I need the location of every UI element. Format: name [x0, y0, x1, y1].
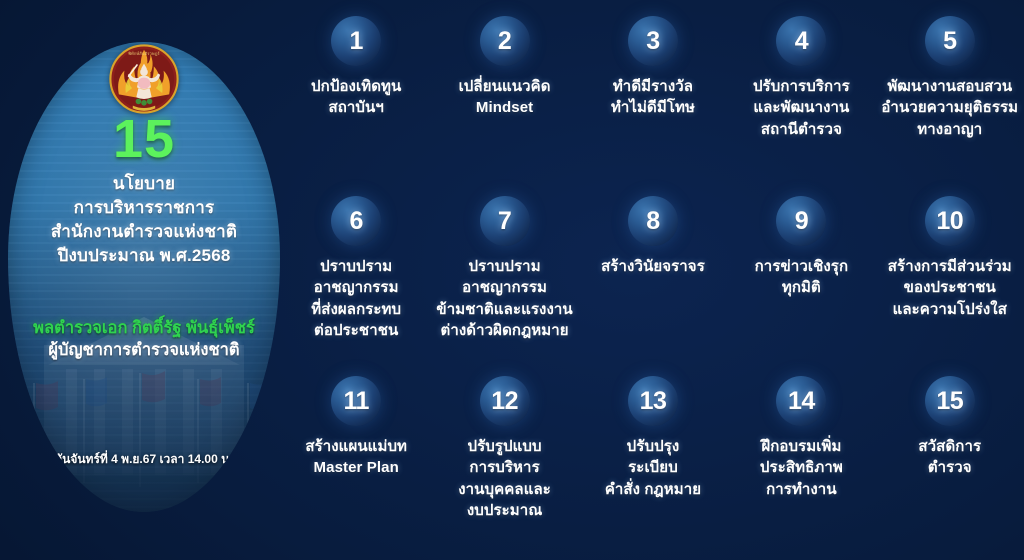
- policy-item-13[interactable]: 13 ปรับปรุง ระเบียบ คำสั่ง กฎหมาย: [579, 376, 727, 500]
- policy-item-10[interactable]: 10 สร้างการมีส่วนร่วม ของประชาชน และความ…: [876, 196, 1024, 320]
- policy-item-12[interactable]: 12 ปรับรูปแบบ การบริหาร งานบุคคลและ งบปร…: [430, 376, 578, 521]
- policy-badge-9: 9: [776, 196, 826, 246]
- policy-item-15[interactable]: 15 สวัสดิการ ตำรวจ: [876, 376, 1024, 479]
- policy-number: 9: [795, 209, 808, 234]
- policy-item-2[interactable]: 2 เปลี่ยนแนวคิด Mindset: [430, 16, 578, 119]
- policy-badge-15: 15: [925, 376, 975, 426]
- policy-number: 15: [936, 389, 963, 414]
- policy-badge-7: 7: [480, 196, 530, 246]
- policy-item-6[interactable]: 6 ปราบปราม อาชญากรรม ที่ส่งผลกระทบ ต่อปร…: [282, 196, 430, 341]
- policy-badge-10: 10: [925, 196, 975, 246]
- policy-badge-6: 6: [331, 196, 381, 246]
- panel-line-3: สำนักงานตำรวจแห่งชาติ: [51, 220, 237, 244]
- policy-item-3[interactable]: 3 ทำดีมีรางวัล ทำไม่ดีมีโทษ: [579, 16, 727, 119]
- policy-label: สร้างการมีส่วนร่วม ของประชาชน และความโปร…: [888, 256, 1012, 320]
- policy-label: สร้างแผนแม่บท Master Plan: [305, 436, 407, 479]
- policy-number: 6: [349, 209, 362, 234]
- policy-number: 10: [936, 209, 963, 234]
- policy-number: 7: [498, 209, 511, 234]
- policy-label: ปราบปราม อาชญากรรม ที่ส่งผลกระทบ ต่อประช…: [311, 256, 401, 341]
- policy-badge-13: 13: [628, 376, 678, 426]
- policy-item-8[interactable]: 8 สร้างวินัยจราจร: [579, 196, 727, 277]
- policy-number: 14: [788, 389, 815, 414]
- policy-label: ปรับรูปแบบ การบริหาร งานบุคคลและ งบประมา…: [458, 436, 551, 521]
- policy-item-14[interactable]: 14 ฝึกอบรมเพิ่ม ประสิทธิภาพ การทำงาน: [727, 376, 875, 500]
- policy-label: ทำดีมีรางวัล ทำไม่ดีมีโทษ: [611, 76, 695, 119]
- policy-number: 1: [349, 29, 362, 54]
- panel-line-1: นโยบาย: [113, 172, 175, 196]
- policy-number: 3: [646, 29, 659, 54]
- policy-number: 8: [646, 209, 659, 234]
- policy-label: สร้างวินัยจราจร: [601, 256, 705, 277]
- policy-label: ปรับการบริการ และพัฒนางาน สถานีตำรวจ: [753, 76, 850, 140]
- policy-count: 15: [113, 112, 175, 166]
- policy-item-4[interactable]: 4 ปรับการบริการ และพัฒนางาน สถานีตำรวจ: [727, 16, 875, 140]
- policy-label: การข่าวเชิงรุก ทุกมิติ: [755, 256, 849, 299]
- policy-number: 13: [640, 389, 667, 414]
- svg-text:พิทักษ์สันติราษฎร์: พิทักษ์สันติราษฎร์: [128, 51, 160, 56]
- panel-line-4: ปีงบประมาณ พ.ศ.2568: [57, 244, 230, 268]
- policy-number: 11: [343, 389, 368, 414]
- royal-thai-police-emblem: พิทักษ์สันติราษฎร์: [109, 44, 179, 114]
- policy-badge-4: 4: [776, 16, 826, 66]
- policy-grid: 1 ปกป้องเทิดทูน สถาบันฯ 2 เปลี่ยนแนวคิด …: [282, 16, 1024, 556]
- policy-badge-1: 1: [331, 16, 381, 66]
- policy-label: ปกป้องเทิดทูน สถาบันฯ: [311, 76, 401, 119]
- policy-item-5[interactable]: 5 พัฒนางานสอบสวน อำนวยความยุติธรรม ทางอา…: [876, 16, 1024, 140]
- policy-item-1[interactable]: 1 ปกป้องเทิดทูน สถาบันฯ: [282, 16, 430, 119]
- commissioner-title: ผู้บัญชาการตำรวจแห่งชาติ: [48, 339, 239, 361]
- policy-label: สวัสดิการ ตำรวจ: [918, 436, 981, 479]
- infographic-canvas: พิทักษ์สันติราษฎร์ 15 นโยบาย การบริหารรา…: [0, 0, 1024, 560]
- policy-badge-8: 8: [628, 196, 678, 246]
- policy-badge-3: 3: [628, 16, 678, 66]
- policy-label: ปรับปรุง ระเบียบ คำสั่ง กฎหมาย: [605, 436, 701, 500]
- policy-label: ปราบปราม อาชญากรรม ข้ามชาติและแรงงาน ต่า…: [436, 256, 572, 341]
- policy-badge-2: 2: [480, 16, 530, 66]
- policy-badge-11: 11: [331, 376, 381, 426]
- policy-item-9[interactable]: 9 การข่าวเชิงรุก ทุกมิติ: [727, 196, 875, 299]
- commissioner-name: พลตำรวจเอก กิตติ์รัฐ พันธุ์เพ็ชร์: [33, 317, 255, 339]
- policy-number: 12: [491, 389, 518, 414]
- policy-badge-5: 5: [925, 16, 975, 66]
- policy-number: 5: [943, 29, 956, 54]
- policy-badge-14: 14: [776, 376, 826, 426]
- policy-item-11[interactable]: 11 สร้างแผนแม่บท Master Plan: [282, 376, 430, 479]
- policy-number: 4: [795, 29, 808, 54]
- presentation-datetime: วันจันทร์ที่ 4 พ.ย.67 เวลา 14.00 น.: [8, 450, 280, 469]
- policy-label: พัฒนางานสอบสวน อำนวยความยุติธรรม ทางอาญา: [881, 76, 1018, 140]
- panel-line-2: การบริหารราชการ: [74, 196, 215, 220]
- policy-badge-12: 12: [480, 376, 530, 426]
- policy-number: 2: [498, 29, 511, 54]
- policy-item-7[interactable]: 7 ปราบปราม อาชญากรรม ข้ามชาติและแรงงาน ต…: [430, 196, 578, 341]
- policy-label: ฝึกอบรมเพิ่ม ประสิทธิภาพ การทำงาน: [760, 436, 843, 500]
- policy-label: เปลี่ยนแนวคิด Mindset: [459, 76, 551, 119]
- title-panel: พิทักษ์สันติราษฎร์ 15 นโยบาย การบริหารรา…: [8, 42, 280, 512]
